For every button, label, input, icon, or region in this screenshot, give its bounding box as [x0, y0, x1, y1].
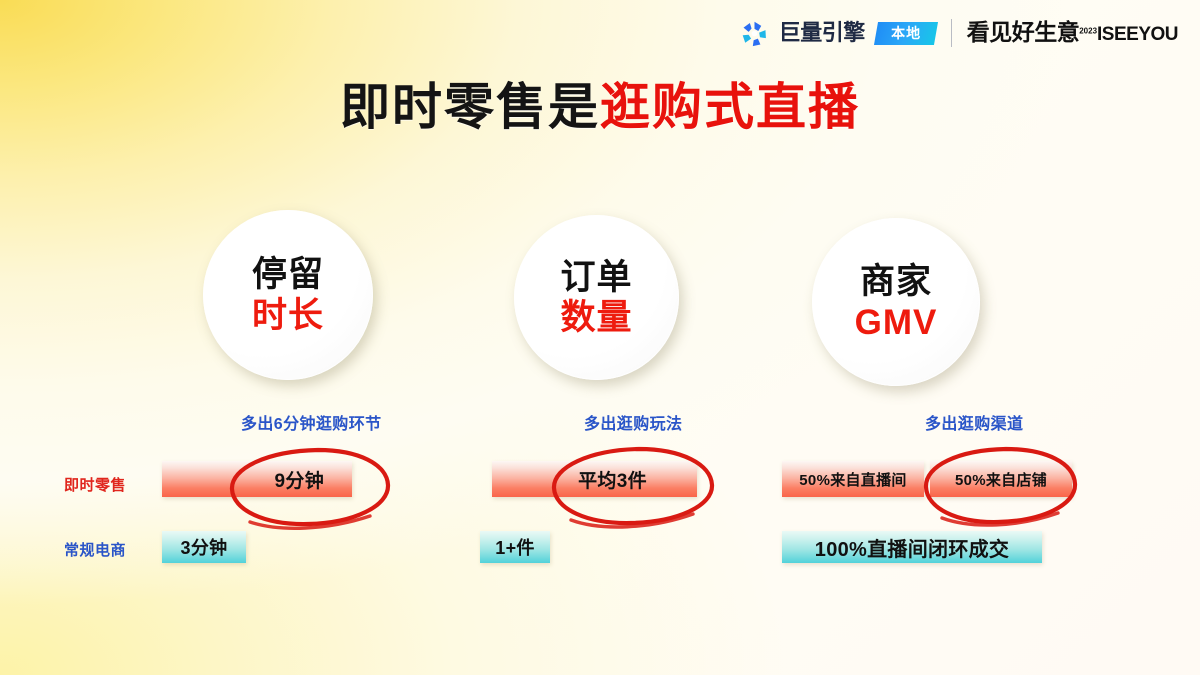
bar-ecom-gmv: 100%直播间闭环成交 [782, 531, 1042, 563]
row-label-traditional-ecommerce: 常规电商 [64, 539, 126, 560]
bar-ecom-order-count: 1+件 [480, 531, 550, 563]
metric-circle-label-bottom: 数量 [560, 299, 632, 336]
bar-value: 3分钟 [162, 534, 246, 560]
bar-value: 50%来自直播间 [782, 469, 924, 490]
bar-retail-gmv-livestream: 50%来自直播间 [782, 461, 924, 497]
bar-retail-gmv-store: 50%来自店铺 [930, 461, 1072, 497]
oceanengine-pinwheel-icon [741, 20, 768, 47]
campaign-lockup: 看见好生意2023ISEEYOU [967, 21, 1178, 45]
metric-circle-merchant-gmv: 商家 GMV [812, 218, 980, 386]
metric-circle-order-count: 订单 数量 [514, 215, 679, 380]
bar-value: 50%来自店铺 [930, 469, 1072, 490]
page-title: 即时零售是逛购式直播 [0, 78, 1200, 137]
bar-value: 100%直播间闭环成交 [782, 533, 1042, 562]
brand-logo-bar: 巨量引擎 本地 看见好生意2023ISEEYOU [741, 19, 1178, 47]
column-caption-order-count: 多出逛购玩法 [584, 410, 682, 434]
metric-circle-label-top: 商家 [860, 263, 932, 300]
logo-divider [951, 19, 952, 47]
metric-circle-label-top: 订单 [560, 259, 632, 296]
row-label-instant-retail: 即时零售 [64, 474, 126, 495]
page-title-lead: 即时零售是 [340, 79, 600, 135]
metric-circle-label-bottom: GMV [855, 304, 938, 341]
metric-circle-dwell-time: 停留 时长 [203, 210, 373, 380]
bar-ecom-dwell-time: 3分钟 [162, 531, 246, 563]
metric-circle-label-bottom: 时长 [252, 297, 324, 334]
local-chip: 本地 [874, 22, 938, 45]
metric-circle-label-top: 停留 [252, 256, 324, 293]
column-caption-merchant-gmv: 多出逛购渠道 [925, 410, 1023, 434]
local-chip-label: 本地 [891, 26, 921, 40]
campaign-name-en: ISEEYOU [1097, 24, 1178, 45]
brand-name: 巨量引擎 [779, 22, 865, 44]
campaign-year: 2023 [1079, 27, 1097, 36]
column-caption-dwell-time: 多出6分钟逛购环节 [241, 410, 382, 434]
bar-value: 1+件 [480, 534, 550, 560]
bar-retail-order-count: 平均3件 [492, 461, 697, 497]
bar-value: 9分钟 [162, 466, 352, 493]
bar-value: 平均3件 [492, 466, 697, 493]
bar-retail-dwell-time: 9分钟 [162, 461, 352, 497]
page-title-accent: 逛购式直播 [600, 79, 860, 135]
campaign-name-cn: 看见好生意 [967, 19, 1080, 45]
